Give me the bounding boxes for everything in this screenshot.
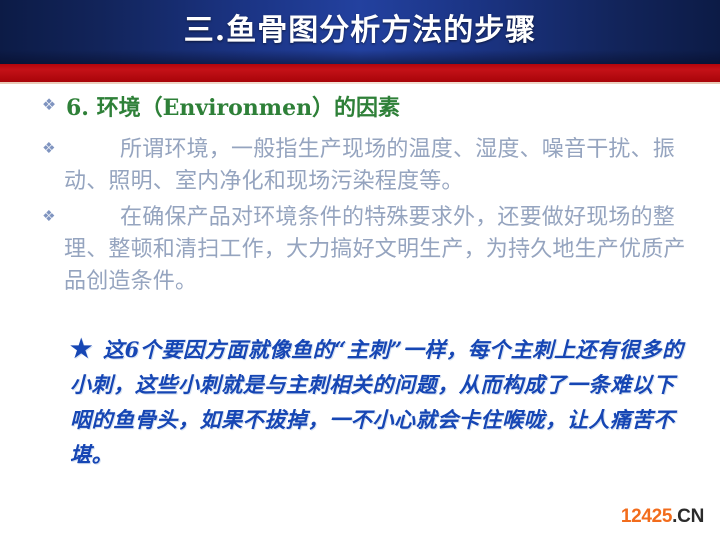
section-heading-label: 6. 环境（Environmen）的因素 <box>66 93 400 123</box>
diamond-bullet-icon: ❖ <box>38 209 60 224</box>
emphasis-text: 这6个要因方面就像鱼的“主刺”一样，每个主刺上还有很多的小刺，这些小刺就是与主刺… <box>70 337 684 467</box>
body-paragraph-1-text: 所谓环境，一般指生产现场的温度、湿度、噪音干扰、振动、照明、室内净化和现场污染程… <box>64 134 698 198</box>
diamond-bullet-icon: ❖ <box>38 141 60 156</box>
watermark-number: 12425 <box>621 506 672 527</box>
star-bullet-icon: ★ <box>70 334 93 363</box>
title-divider-red <box>0 64 720 82</box>
page-title: 三.鱼骨图分析方法的步骤 <box>0 9 720 53</box>
body-paragraph-2-text: 在确保产品对环境条件的特殊要求外，还要做好现场的整理、整顿和清扫工作，大力搞好文… <box>64 202 698 298</box>
watermark-tld: .CN <box>672 506 704 527</box>
section-heading-row: ❖ 6. 环境（Environmen）的因素 <box>38 93 698 123</box>
slide-canvas: 三.鱼骨图分析方法的步骤 ❖ 6. 环境（Environmen）的因素 ❖ 所谓… <box>0 0 720 540</box>
body-paragraph-2: ❖ 在确保产品对环境条件的特殊要求外，还要做好现场的整理、整顿和清扫工作，大力搞… <box>38 202 698 298</box>
emphasis-block: ★这6个要因方面就像鱼的“主刺”一样，每个主刺上还有很多的小刺，这些小刺就是与主… <box>70 332 690 472</box>
site-watermark: 12425.CN <box>621 506 704 528</box>
slide-body: ❖ 6. 环境（Environmen）的因素 ❖ 所谓环境，一般指生产现场的温度… <box>0 84 720 540</box>
body-paragraph-1: ❖ 所谓环境，一般指生产现场的温度、湿度、噪音干扰、振动、照明、室内净化和现场污… <box>38 134 698 198</box>
diamond-bullet-icon: ❖ <box>38 98 60 114</box>
